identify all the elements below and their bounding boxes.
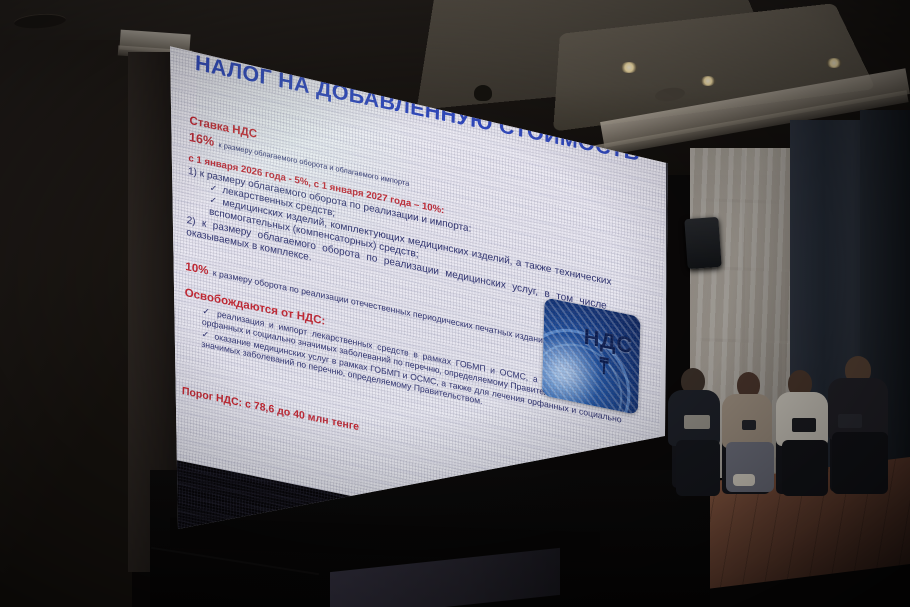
ten-percent-value: 10% [185,261,208,278]
led-screen-wrap: НАЛОГ НА ДОБАВЛЕННУЮ СТОИМОСТЬ Ставка НД… [0,0,910,607]
check-icon: ✓ [209,194,217,206]
check-icon: ✓ [210,182,218,194]
tenge-symbol-icon: ₸ [599,353,608,381]
led-screen: НАЛОГ НА ДОБАВЛЕННУЮ СТОИМОСТЬ Ставка НД… [168,26,668,531]
rate-value: 16% [189,130,214,149]
conference-hall-scene: НАЛОГ НА ДОБАВЛЕННУЮ СТОИМОСТЬ Ставка НД… [0,0,910,607]
vat-badge-image: НДС ₸ [542,297,641,415]
check-icon: ✓ [201,328,209,340]
threshold-text: Порог НДС: с 78,6 до 40 млн тенге [182,385,359,433]
